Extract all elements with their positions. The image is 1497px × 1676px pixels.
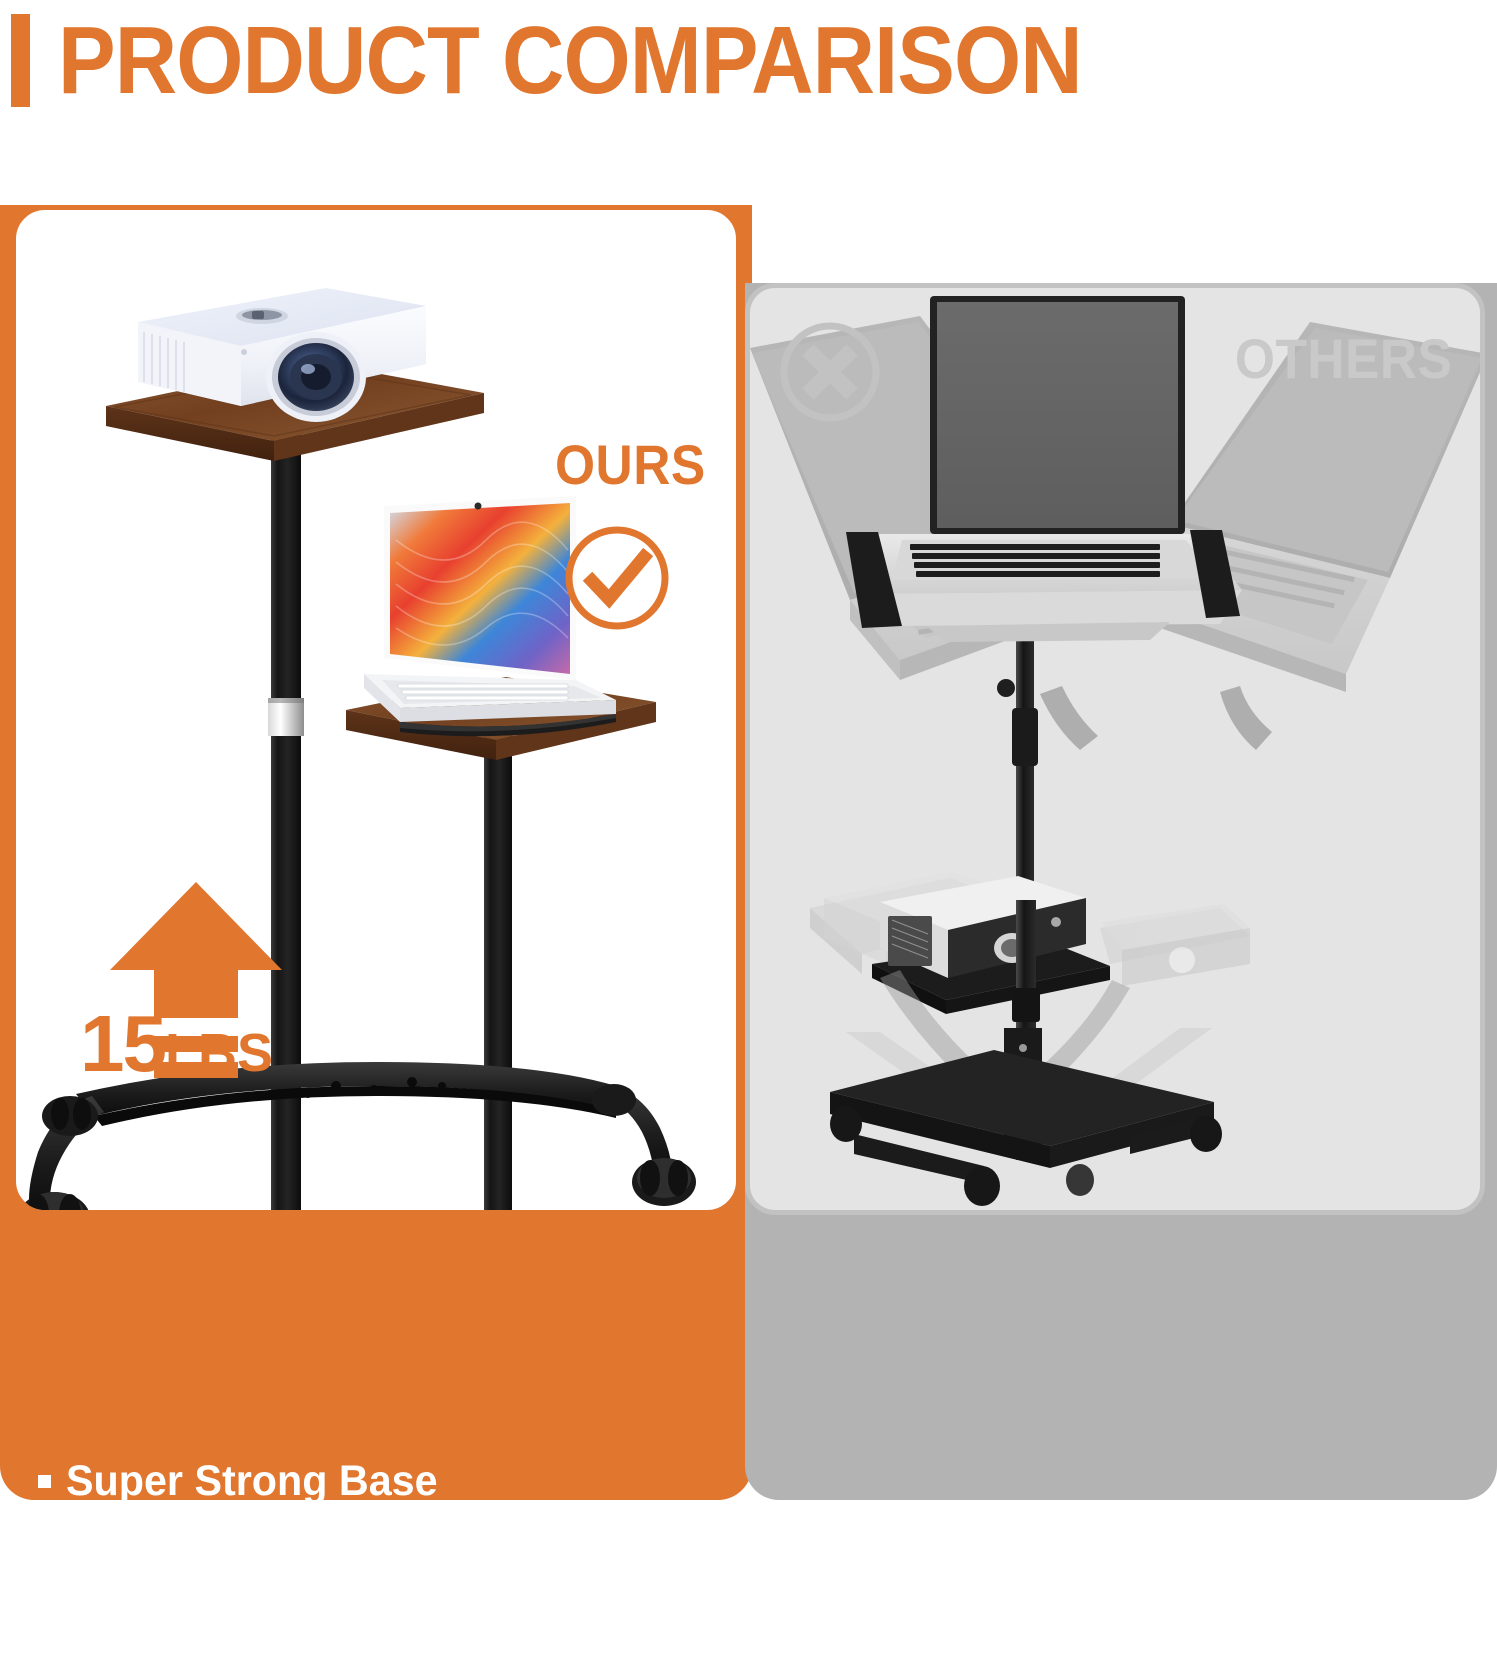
projector-lens xyxy=(266,332,366,422)
caster-wheel-front-right xyxy=(632,1158,696,1206)
weight-capacity-label: 15LBS xyxy=(80,1004,273,1084)
list-item-label: Super Strong Base xyxy=(66,1460,438,1503)
others-image-area: OTHERS xyxy=(745,283,1485,1215)
list-item: Locking Wheels for Easy Mobility xyxy=(38,1529,749,1572)
list-item: Super Strong Base xyxy=(38,1460,749,1503)
ours-image-area: 15LBS xyxy=(11,205,741,1215)
title-accent-bar xyxy=(11,14,30,107)
ours-label: OURS xyxy=(555,432,706,497)
others-label: OTHERS xyxy=(1235,326,1452,391)
weight-capacity-unit: LBS xyxy=(165,1023,273,1083)
wheel-left-front xyxy=(964,1166,1000,1206)
weight-capacity-number: 15 xyxy=(80,999,165,1088)
laptop-tray-pole xyxy=(484,720,512,1215)
list-item: Durable Construction xyxy=(38,1598,749,1641)
projector-focus-slider xyxy=(236,308,288,324)
others-panel: OTHERS Thin Material, Poor Stability Des… xyxy=(745,283,1497,1500)
wheel-right-rear xyxy=(1190,1116,1222,1152)
page-title: PRODUCT COMPARISON xyxy=(58,2,1082,120)
ours-panel: 15LBS OURS Super Strong Base Locking Whe… xyxy=(0,205,752,1500)
h-frame-base xyxy=(830,1028,1222,1206)
bullet-marker-icon xyxy=(38,1475,51,1488)
x-circle-icon xyxy=(776,318,884,426)
caster-wheel-front-left xyxy=(18,1192,90,1215)
thin-pole-upper xyxy=(1016,640,1034,910)
caster-wheel-back-right xyxy=(592,1084,636,1116)
wheel-right-front xyxy=(1066,1164,1094,1196)
wheel-left-rear xyxy=(830,1106,862,1142)
bullet-marker-icon xyxy=(38,1544,51,1557)
page-header: PRODUCT COMPARISON xyxy=(0,0,1497,175)
pole-adjust-knob xyxy=(1012,708,1038,766)
list-item-label: Durable Construction xyxy=(66,1598,488,1641)
height-adjust-collar xyxy=(268,698,304,736)
bullet-marker-icon xyxy=(38,1613,51,1626)
caster-wheel-back-left xyxy=(42,1096,98,1136)
others-illustration xyxy=(750,288,1485,1215)
list-item-label: Locking Wheels for Easy Mobility xyxy=(66,1529,722,1572)
ours-feature-list: Super Strong Base Locking Wheels for Eas… xyxy=(38,1460,749,1667)
check-circle-icon xyxy=(562,523,672,633)
